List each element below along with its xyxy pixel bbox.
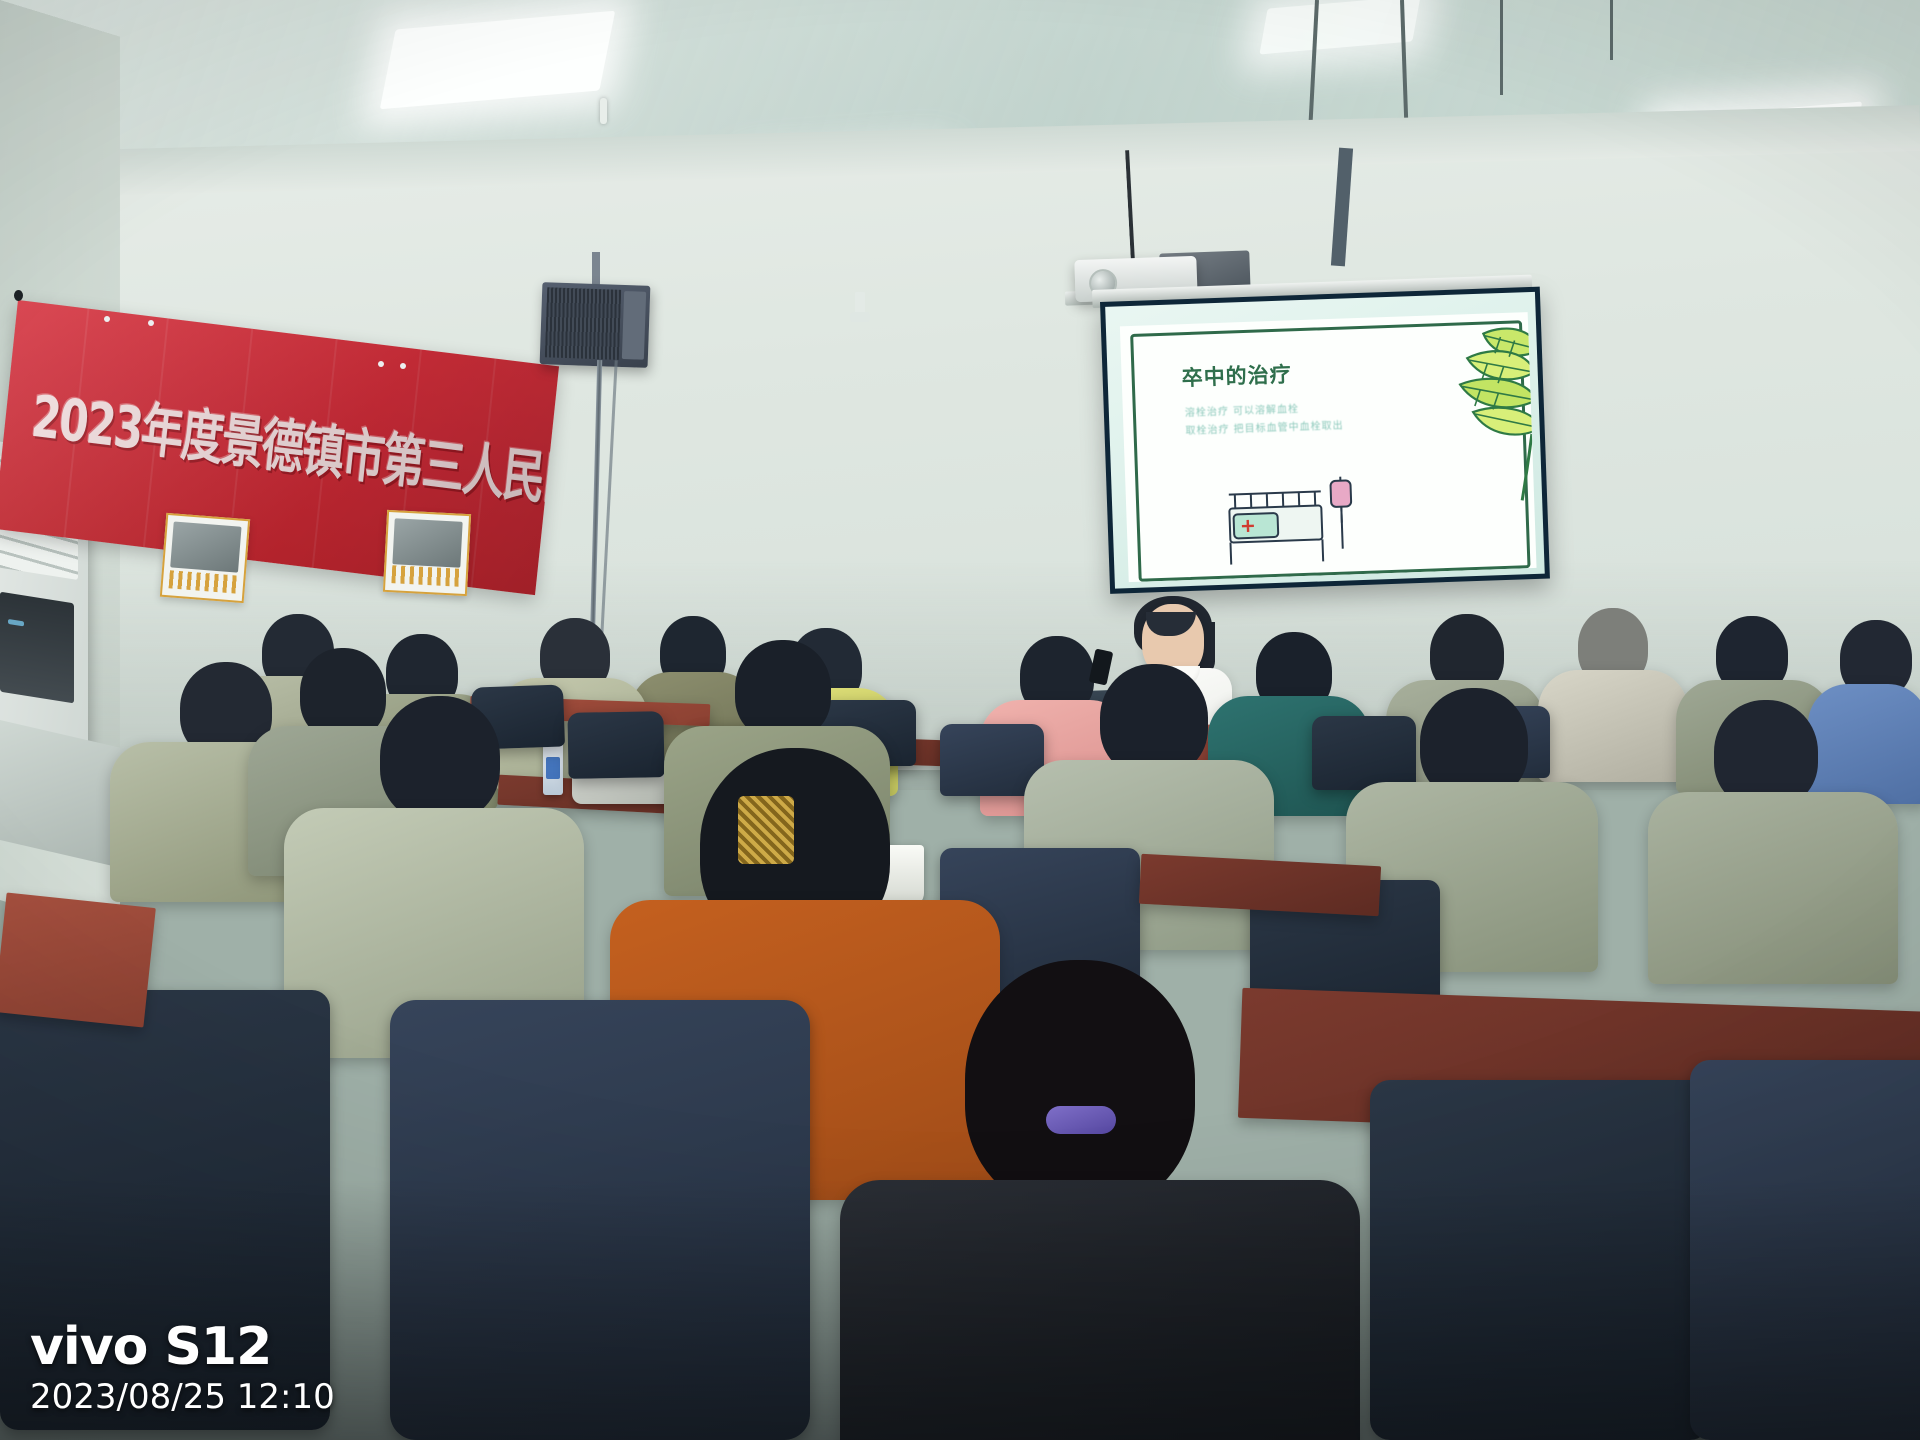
ac-display-panel <box>0 592 74 704</box>
foreground-chair <box>1690 1060 1920 1440</box>
decor-pattern-bar <box>169 570 238 593</box>
sprinkler-head-icon <box>600 98 607 124</box>
banner-tie <box>14 290 23 301</box>
audience-chair <box>567 711 664 779</box>
projection-screen: 卒中的治疗 溶栓治疗 可以溶解血栓 取栓治疗 把目标血管中血栓取出 <box>1100 287 1550 594</box>
hospital-bed-illustration <box>1220 470 1373 573</box>
audience-head <box>735 640 831 740</box>
wall-decor-panel <box>383 510 471 596</box>
side-table <box>0 892 156 1027</box>
screen-surface: 卒中的治疗 溶栓治疗 可以溶解血栓 取栓治疗 把目标血管中血栓取出 <box>1105 292 1545 589</box>
audience-torso <box>1648 792 1898 984</box>
wall-decor-panel <box>160 513 250 603</box>
ceiling-cable <box>1610 0 1613 60</box>
ceiling-hook <box>855 292 865 318</box>
decor-pattern-bar <box>391 565 460 587</box>
wall-loudspeaker <box>540 282 651 368</box>
speaker-side-panel <box>622 291 646 360</box>
banner-pin <box>378 361 384 367</box>
audience-head <box>965 960 1195 1210</box>
foreground-chair <box>390 1000 810 1440</box>
decor-image <box>170 521 241 572</box>
banner-pin <box>148 320 154 326</box>
watermark-timestamp: 2023/08/25 12:10 <box>30 1380 335 1416</box>
audience-torso <box>1538 670 1688 782</box>
ceiling-cable <box>1500 0 1503 95</box>
foreground-chair <box>1370 1080 1710 1440</box>
audience-torso <box>840 1180 1360 1440</box>
hair-tie <box>1046 1106 1116 1134</box>
banner-pin <box>400 363 406 369</box>
audience-chair <box>1312 716 1416 790</box>
audience-torso <box>1808 684 1920 804</box>
decor-image <box>392 518 462 567</box>
audience-head <box>380 696 500 822</box>
speaker-grill <box>545 287 621 360</box>
banner-pin <box>104 316 110 322</box>
hair-clip-icon <box>738 796 794 864</box>
slide-title: 卒中的治疗 <box>1181 358 1292 392</box>
camera-watermark: vivo S12 2023/08/25 12:10 <box>30 1320 335 1416</box>
palm-leaf-illustration <box>1388 316 1537 506</box>
presentation-slide: 卒中的治疗 溶栓治疗 可以溶解血栓 取栓治疗 把目标血管中血栓取出 <box>1120 312 1537 582</box>
conference-room-photo: 2023年度景德镇市第三人民医院应急知识宣教活动 <box>0 0 1920 1440</box>
watermark-brand: vivo S12 <box>30 1320 335 1375</box>
